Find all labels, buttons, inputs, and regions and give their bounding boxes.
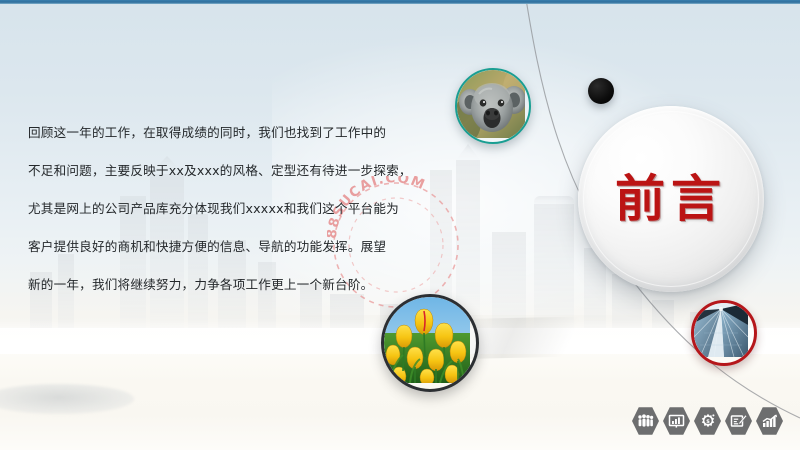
top-accent-band bbox=[0, 0, 800, 4]
growth-chart-icon[interactable] bbox=[756, 406, 783, 436]
svg-text:$: $ bbox=[706, 419, 710, 425]
body-line: 回顾这一年的工作，在取得成绩的同时，我们也找到了工作中的 bbox=[28, 114, 448, 152]
body-line: 尤其是网上的公司产品库充分体现我们xxxxx和我们这个平台能为 bbox=[28, 190, 448, 228]
document-edit-icon[interactable] bbox=[725, 406, 752, 436]
body-line: 客户提供良好的商机和快捷方便的信息、导航的功能发挥。展望 bbox=[28, 228, 448, 266]
body-line: 新的一年，我们将继续努力，力争各项工作更上一个新台阶。 bbox=[28, 266, 448, 304]
hex-icon-bar: $ bbox=[632, 406, 783, 436]
page-title: 前言 bbox=[615, 174, 727, 224]
presentation-chart-icon[interactable] bbox=[663, 406, 690, 436]
building-photo-image bbox=[694, 303, 754, 363]
presentation-slide: 88SUCAI.COM 回顾这一年的工作，在取得成绩的同时，我们也找到了工作中的… bbox=[0, 0, 800, 450]
building-photo[interactable] bbox=[691, 300, 757, 366]
body-line: 不足和问题，主要反映于xx及xxx的风格、定型还有待进一步探索， bbox=[28, 152, 448, 190]
gear-settings-icon[interactable]: $ bbox=[694, 406, 721, 436]
body-text-block: 回顾这一年的工作，在取得成绩的同时，我们也找到了工作中的 不足和问题，主要反映于… bbox=[28, 114, 448, 304]
tulips-photo[interactable] bbox=[381, 294, 479, 392]
black-dot-decoration bbox=[588, 78, 614, 104]
koala-photo-image bbox=[457, 70, 529, 142]
title-disc[interactable]: 前言 bbox=[578, 106, 764, 292]
people-group-icon[interactable] bbox=[632, 406, 659, 436]
tulips-photo-image bbox=[384, 297, 476, 389]
koala-photo[interactable] bbox=[455, 68, 531, 144]
